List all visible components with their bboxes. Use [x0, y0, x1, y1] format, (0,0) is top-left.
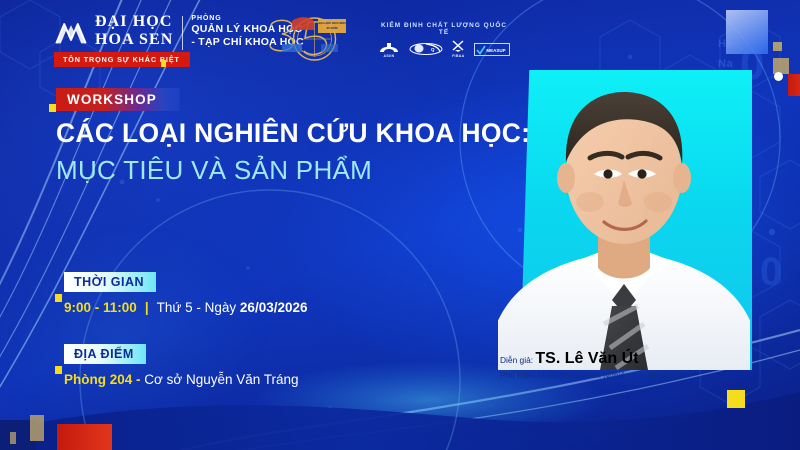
- time-block: THỜI GIAN 9:00 - 11:00|Thứ 5 - Ngày 26/0…: [64, 272, 308, 316]
- asiin-logo-icon: [378, 41, 400, 53]
- brand-name: ĐẠI HỌC HOA SEN: [95, 14, 173, 48]
- measup-logo-icon: MEASUP: [474, 43, 510, 56]
- accent-square-red: [57, 424, 112, 450]
- logo-divider: [182, 16, 183, 50]
- workshop-badge-label: WORKSHOP: [56, 92, 157, 107]
- location-room: Phòng 204: [64, 372, 132, 387]
- accent-square-yellow: [49, 104, 56, 112]
- speaker-prefix: Diễn giả:: [500, 355, 535, 365]
- accent-square-yellow: [161, 60, 166, 67]
- accent-square-yellow: [727, 390, 745, 408]
- location-campus: Cơ sở Nguyễn Văn Tráng: [144, 372, 298, 387]
- poster-canvas: He Na Li 0 0: [0, 0, 800, 450]
- accreditation-title: KIỂM ĐỊNH CHẤT LƯỢNG QUỐC TẾ: [378, 22, 510, 36]
- speaker-name-line: Diễn giả: TS. Lê Văn Út: [500, 350, 754, 368]
- speaker-caption: Diễn giả: TS. Lê Văn Út Phó Hiệu trưởng …: [498, 347, 754, 377]
- time-label: THỜI GIAN: [74, 275, 144, 289]
- accent-circle-white: [774, 72, 783, 81]
- location-label: ĐỊA ĐIỂM: [74, 347, 134, 361]
- svg-text:Q: Q: [431, 47, 435, 52]
- workshop-badge: WORKSHOP: [56, 88, 180, 111]
- accreditation-block: KIỂM ĐỊNH CHẤT LƯỢNG QUỐC TẾ ASIIN Q: [378, 22, 510, 58]
- fibaa-logo-icon: [451, 40, 465, 53]
- time-value-line: 9:00 - 11:00|Thứ 5 - Ngày 26/03/2026: [64, 300, 308, 316]
- accent-square-yellow: [55, 366, 62, 374]
- title-line1: CÁC LOẠI NGHIÊN CỨU KHOA HỌC:: [56, 118, 526, 148]
- svg-text:35 NĂM: 35 NĂM: [326, 25, 338, 30]
- location-label-pill: ĐỊA ĐIỂM: [64, 344, 146, 364]
- page-title: CÁC LOẠI NGHIÊN CỨU KHOA HỌC: MỤC TIÊU V…: [56, 118, 526, 185]
- title-line2: MỤC TIÊU VÀ SẢN PHẨM: [56, 155, 526, 185]
- time-date: 26/03/2026: [240, 300, 308, 315]
- accent-square-gold: [773, 42, 782, 51]
- aun-qa-logo: Q: [409, 42, 443, 57]
- anniversary-35-logo: ĐẠI HỌC HOA SEN 35 NĂM: [262, 13, 367, 63]
- accreditation-logo-row: ASIIN Q FIBAA: [378, 40, 510, 58]
- time-separator: |: [137, 300, 157, 315]
- speaker-name: TS. Lê Văn Út: [535, 350, 638, 367]
- time-label-pill: THỜI GIAN: [64, 272, 156, 292]
- brand-tagline: TÔN TRỌNG SỰ KHÁC BIỆT: [54, 52, 190, 67]
- location-value-line: Phòng 204 - Cơ sở Nguyễn Văn Tráng: [64, 372, 299, 388]
- speaker-portrait: [498, 62, 750, 370]
- fibaa-caption: FIBAA: [452, 54, 464, 58]
- accent-square-blue: [726, 10, 768, 54]
- brand-name-line1: ĐẠI HỌC: [95, 14, 173, 30]
- brand-name-line2: HOA SEN: [95, 32, 173, 48]
- speaker-role: Phó Hiệu trưởng phụ trách Nghiên cứu kho…: [500, 370, 754, 380]
- location-dash: -: [132, 372, 144, 387]
- aun-qa-logo-icon: Q: [409, 42, 443, 56]
- svg-text:MEASUP: MEASUP: [486, 48, 505, 53]
- measup-logo: MEASUP: [474, 43, 510, 56]
- fibaa-logo: FIBAA: [451, 40, 465, 58]
- accent-square-gold: [10, 432, 16, 444]
- time-hours: 9:00 - 11:00: [64, 300, 137, 315]
- location-block: ĐỊA ĐIỂM Phòng 204 - Cơ sở Nguyễn Văn Tr…: [64, 344, 299, 388]
- accent-square-gold: [30, 415, 44, 441]
- asiin-logo: ASIIN: [378, 41, 400, 58]
- asiin-caption: ASIIN: [383, 54, 394, 58]
- time-weekday: Thứ 5 - Ngày: [157, 300, 240, 315]
- accent-square-red: [788, 74, 800, 96]
- svg-text:ĐẠI HỌC HOA SEN: ĐẠI HỌC HOA SEN: [318, 21, 345, 25]
- accent-square-yellow: [55, 294, 62, 302]
- hoa-sen-mountain-logo-icon: [54, 15, 88, 49]
